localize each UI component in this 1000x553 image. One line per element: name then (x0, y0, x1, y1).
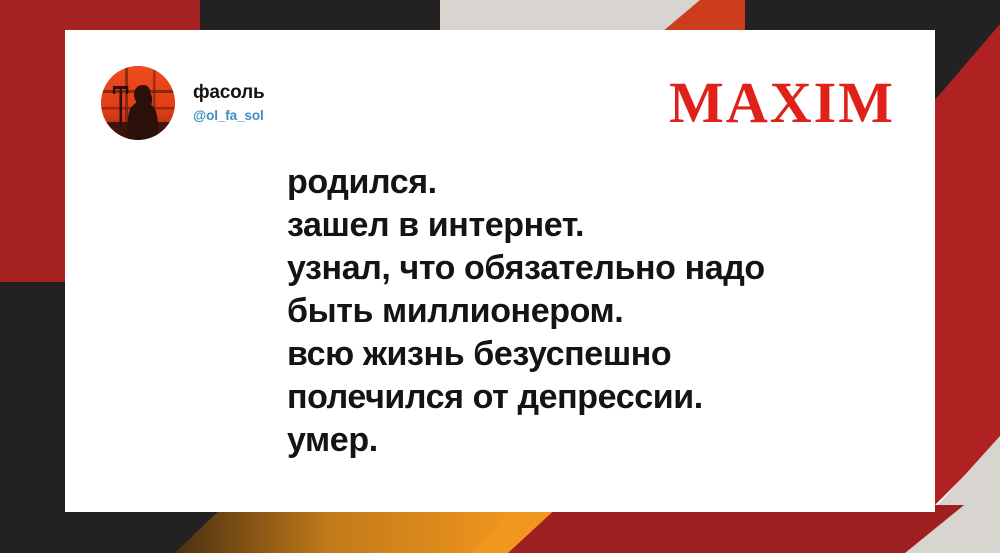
quote-line: узнал, что обязательно надо (287, 247, 907, 290)
quote-line: полечился от депрессии. (287, 376, 907, 419)
author-name: фасоль (193, 82, 264, 104)
quote-line: умер. (287, 419, 907, 462)
quote-line: зашел в интернет. (287, 204, 907, 247)
author-meta: фасоль @ol_fa_sol (193, 82, 264, 123)
quote-text: родился. зашел в интернет. узнал, что об… (287, 161, 907, 462)
quote-line: родился. (287, 161, 907, 204)
quote-line: быть миллионером. (287, 290, 907, 333)
maxim-brand-logo: MAXIM (669, 74, 895, 132)
avatar-devil-silhouette (101, 66, 175, 140)
author-handle[interactable]: @ol_fa_sol (193, 108, 264, 124)
author-row: фасоль @ol_fa_sol (101, 66, 264, 140)
screenshot-root: фасоль @ol_fa_sol MAXIM родился. зашел в… (0, 0, 1000, 553)
quote-card: фасоль @ol_fa_sol MAXIM родился. зашел в… (65, 30, 935, 512)
quote-line: всю жизнь безуспешно (287, 333, 907, 376)
avatar (101, 66, 175, 140)
